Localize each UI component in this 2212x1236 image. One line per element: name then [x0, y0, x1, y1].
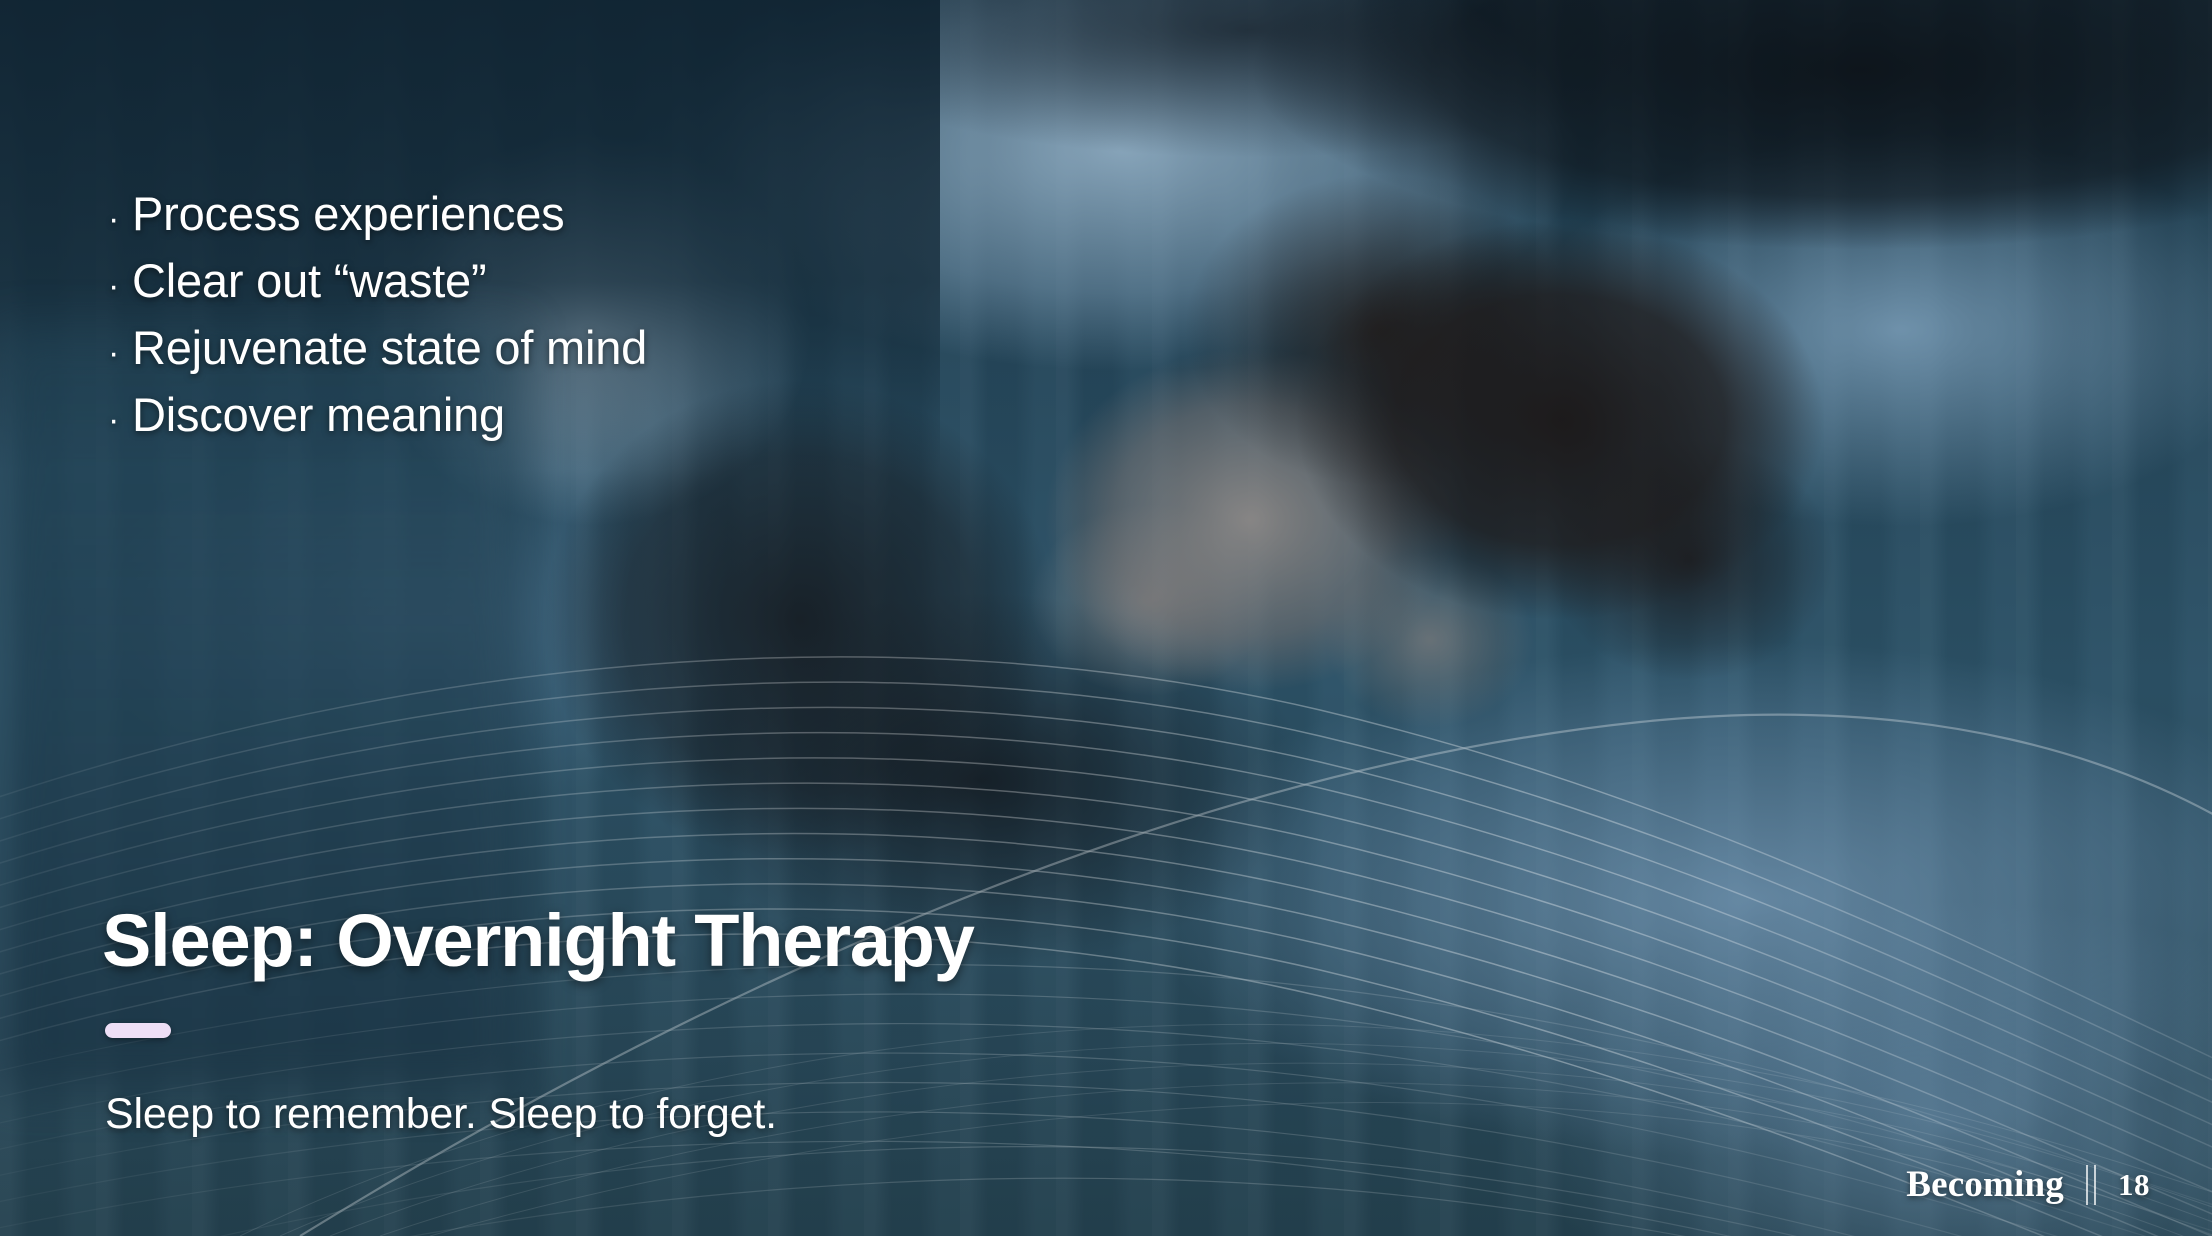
list-item: · Discover meaning: [108, 387, 647, 454]
bullet-list: · Process experiences · Clear out “waste…: [108, 186, 647, 454]
page-number: 18: [2118, 1167, 2150, 1203]
slide-footer: Becoming 18: [1906, 1163, 2150, 1206]
footer-divider-icon: [2086, 1165, 2096, 1205]
bullet-label: Process experiences: [132, 186, 564, 241]
bullet-label: Rejuvenate state of mind: [132, 320, 647, 375]
bullet-label: Discover meaning: [132, 387, 505, 442]
presentation-slide: · Process experiences · Clear out “waste…: [0, 0, 2212, 1236]
list-item: · Process experiences: [108, 186, 647, 253]
list-item: · Rejuvenate state of mind: [108, 320, 647, 387]
slide-subtitle: Sleep to remember. Sleep to forget.: [105, 1090, 777, 1139]
bullet-marker-icon: ·: [108, 202, 132, 236]
list-item: · Clear out “waste”: [108, 253, 647, 320]
bullet-marker-icon: ·: [108, 269, 132, 303]
bullet-marker-icon: ·: [108, 336, 132, 370]
bullet-label: Clear out “waste”: [132, 253, 486, 308]
title-accent-bar: [105, 1023, 171, 1038]
bullet-marker-icon: ·: [108, 403, 132, 437]
slide-title: Sleep: Overnight Therapy: [102, 898, 974, 983]
brand-wordmark: Becoming: [1906, 1163, 2064, 1206]
